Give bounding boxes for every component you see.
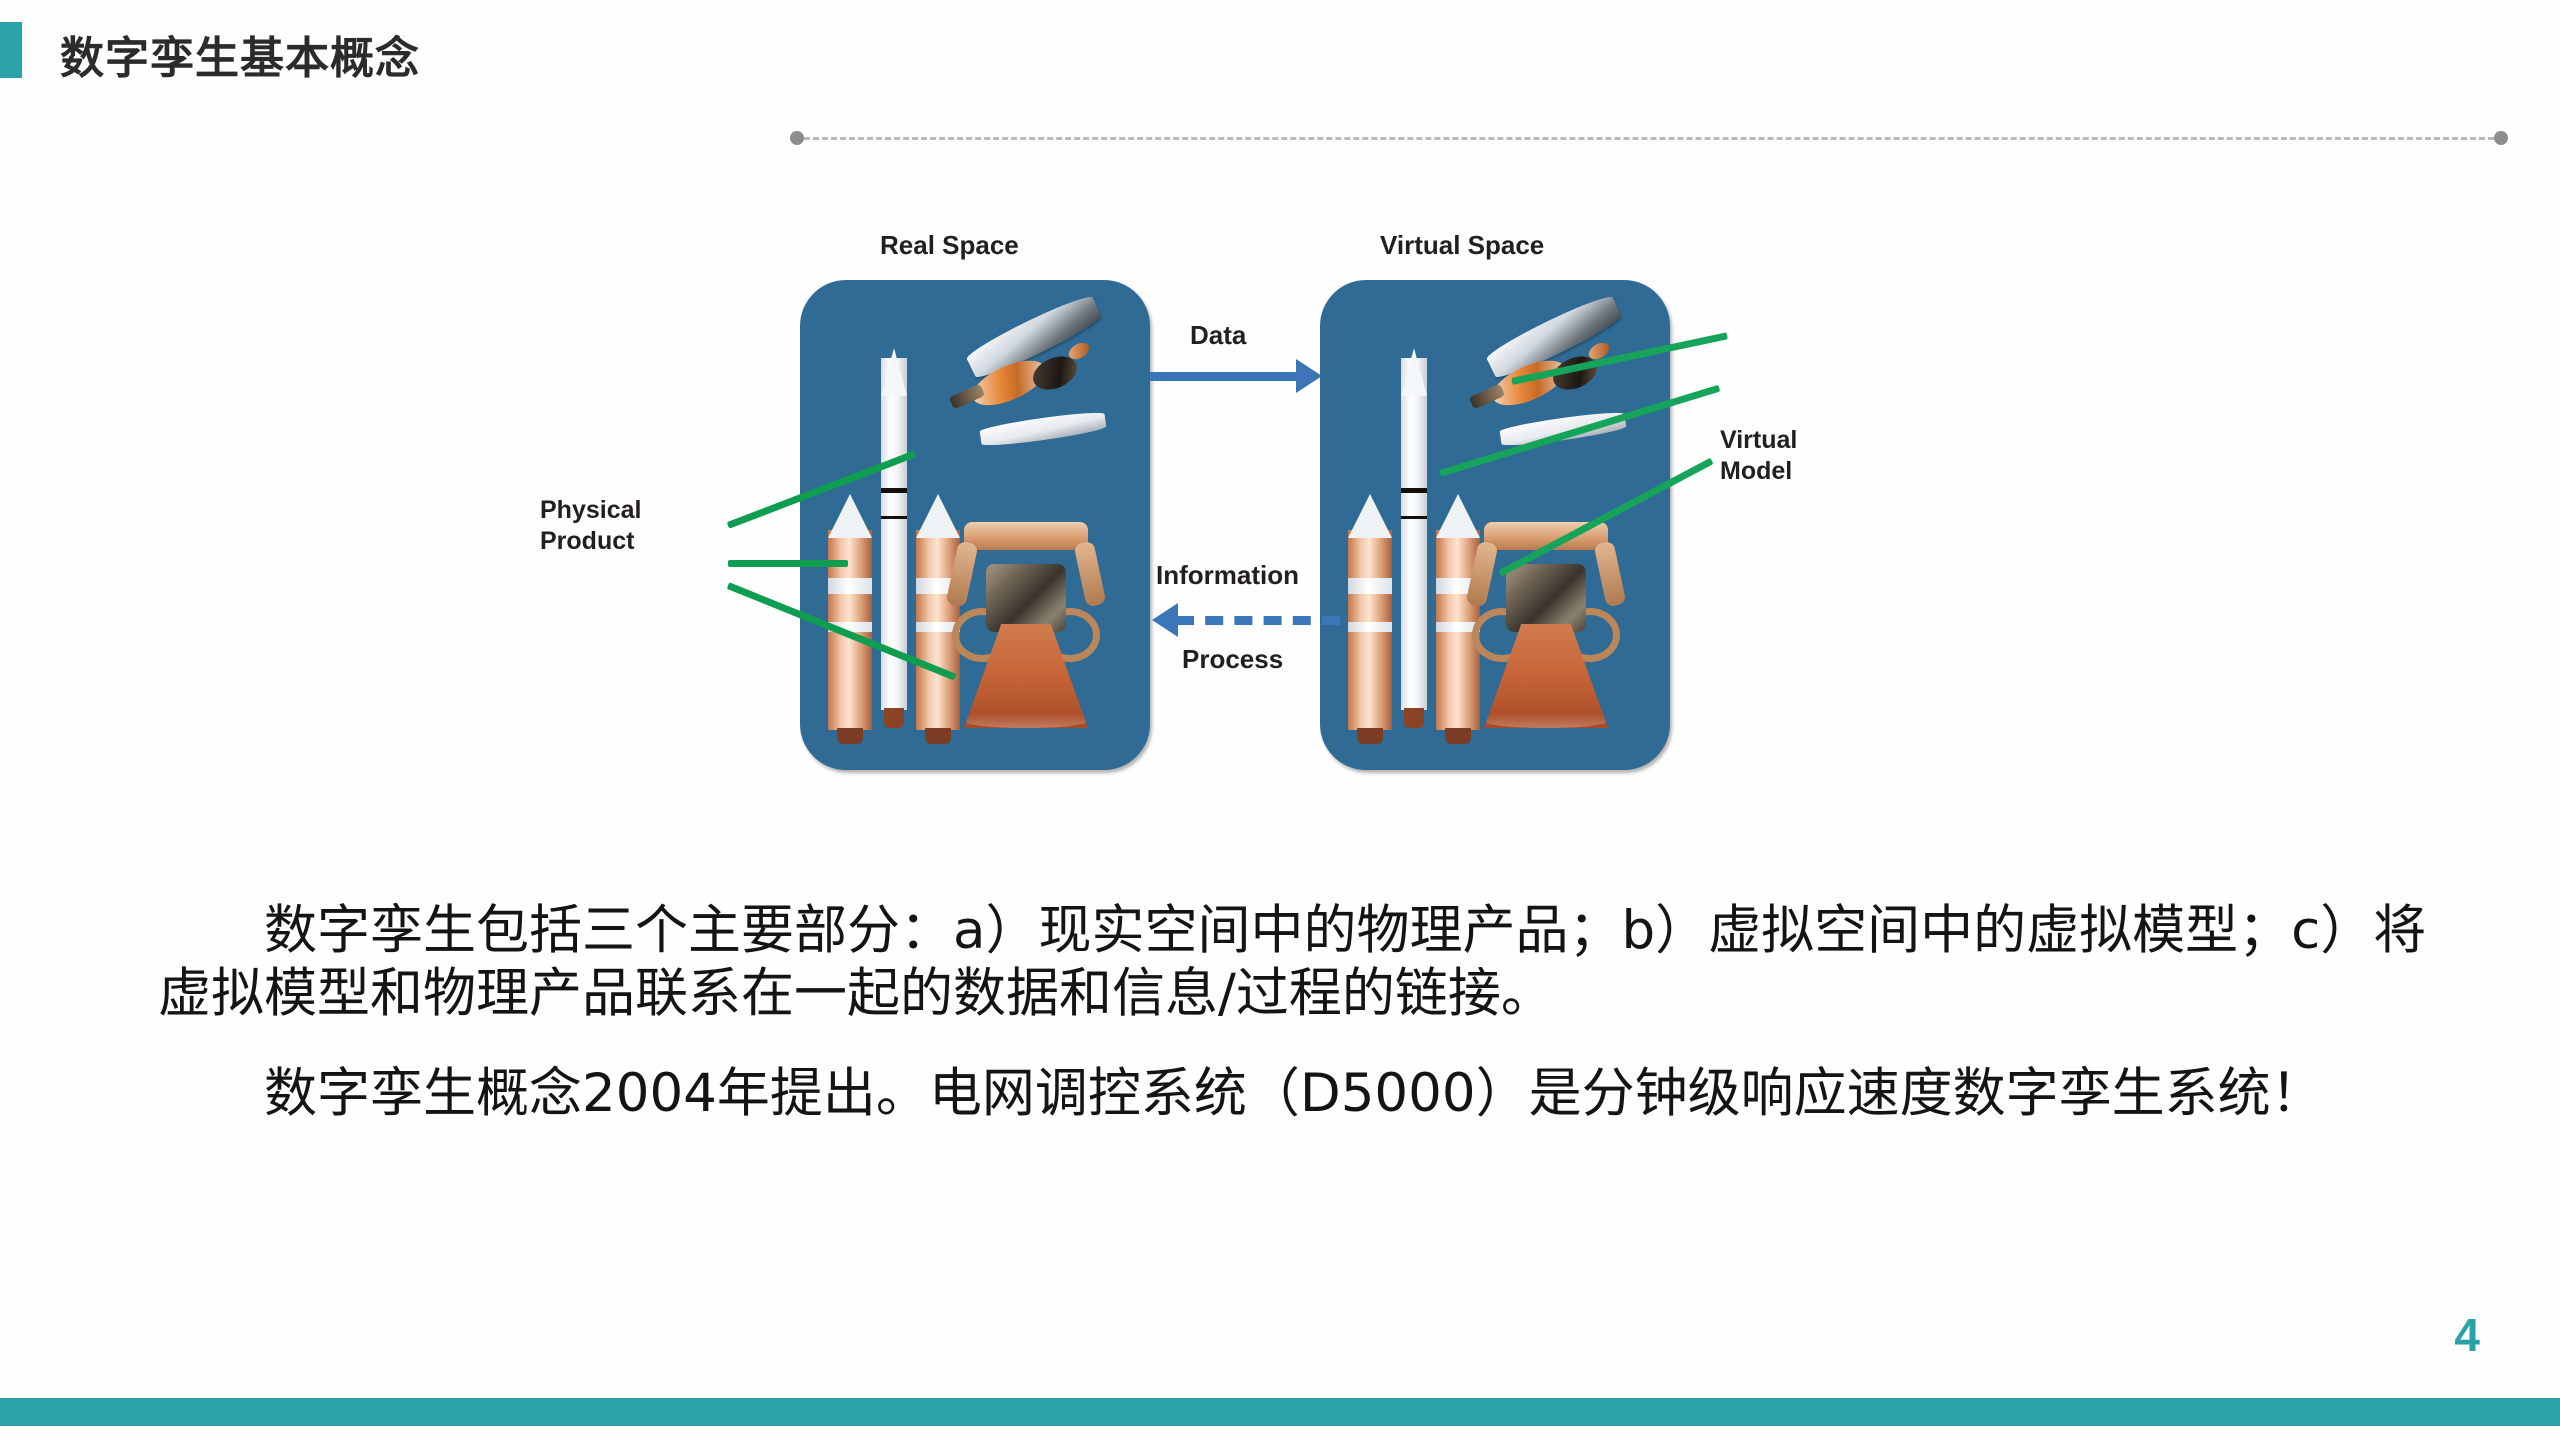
data-flow-label: Data	[1190, 320, 1246, 351]
booster-skirt	[1445, 728, 1471, 744]
engine-arm-right	[1594, 541, 1627, 608]
leader-line-physical-2	[728, 560, 848, 567]
virtual-model-label-line1: Virtual	[1720, 425, 1797, 456]
body-text: 数字孪生包括三个主要部分：a）现实空间中的物理产品；b）虚拟空间中的虚拟模型；c…	[158, 900, 2448, 1126]
paragraph-2: 数字孪生概念2004年提出。电网调控系统（D5000）是分钟级响应速度数字孪生系…	[158, 1063, 2448, 1126]
virtual-model-label: Virtual Model	[1720, 425, 1797, 486]
satellite-nozzle	[949, 384, 985, 410]
rocket-band	[1401, 488, 1427, 493]
divider-dot-right	[2494, 131, 2508, 145]
page-title: 数字孪生基本概念	[60, 22, 420, 86]
booster-skirt	[1357, 728, 1383, 744]
title-divider	[790, 131, 2508, 145]
satellite-nozzle	[1469, 384, 1505, 410]
rocket-core-skirt	[1404, 708, 1424, 728]
information-flow-arrowhead	[1152, 603, 1178, 637]
process-flow-label: Process	[1182, 644, 1283, 675]
information-process-flow: Information Process	[1150, 560, 1350, 710]
rocket-core-stage	[1401, 358, 1427, 710]
engine-turbopump	[1506, 564, 1586, 632]
information-flow-label: Information	[1156, 560, 1299, 591]
real-space-panel	[800, 280, 1150, 770]
divider-dashed-line	[804, 137, 2494, 140]
slide-canvas: 数字孪生基本概念 Real Space Virtual Space	[0, 0, 2560, 1440]
data-flow-arrowhead	[1296, 359, 1322, 393]
booster-nose	[828, 494, 872, 538]
booster-ring	[828, 578, 872, 594]
real-space-artwork	[800, 280, 1150, 770]
rocket-booster-left	[1348, 494, 1392, 744]
booster-nose	[1348, 494, 1392, 538]
satellite-icon	[936, 314, 1116, 474]
physical-product-label-line1: Physical	[540, 495, 641, 526]
rocket-nose-cone	[881, 348, 907, 396]
rocket-band	[1401, 516, 1427, 519]
physical-product-label: Physical Product	[540, 495, 641, 556]
booster-ring	[1348, 578, 1392, 594]
divider-dot-left	[790, 131, 804, 145]
engine-turbopump	[986, 564, 1066, 632]
digital-twin-diagram: Real Space Virtual Space	[560, 230, 2000, 830]
virtual-space-label: Virtual Space	[1380, 230, 1544, 261]
information-flow-line	[1176, 616, 1340, 625]
rocket-booster-left	[828, 494, 872, 744]
rocket-band	[881, 516, 907, 519]
satellite-solar-panel-bottom	[979, 409, 1107, 448]
virtual-space-panel	[1320, 280, 1670, 770]
data-flow: Data	[1150, 320, 1340, 400]
real-space-label: Real Space	[880, 230, 1019, 261]
title-accent-bar	[0, 22, 22, 78]
footer-bar	[0, 1398, 2560, 1426]
page-number: 4	[2454, 1308, 2480, 1362]
virtual-model-label-line2: Model	[1720, 456, 1797, 487]
rocket-core-skirt	[884, 708, 904, 728]
booster-ring	[1348, 622, 1392, 632]
engine-arm-right	[1074, 541, 1107, 608]
rocket-engine-icon	[946, 518, 1106, 728]
engine-arm-left	[946, 541, 979, 608]
satellite-solar-panel-bottom	[1499, 409, 1627, 448]
rocket-nose-cone	[1401, 348, 1427, 396]
booster-skirt	[925, 728, 951, 744]
paragraph-1: 数字孪生包括三个主要部分：a）现实空间中的物理产品；b）虚拟空间中的虚拟模型；c…	[158, 900, 2448, 1025]
engine-top-frame	[964, 522, 1088, 550]
data-flow-line	[1150, 372, 1298, 381]
virtual-space-artwork	[1320, 280, 1670, 770]
engine-arm-left	[1466, 541, 1499, 608]
booster-skirt	[837, 728, 863, 744]
satellite-icon	[1456, 314, 1636, 474]
physical-product-label-line2: Product	[540, 526, 641, 557]
rocket-band	[881, 488, 907, 493]
